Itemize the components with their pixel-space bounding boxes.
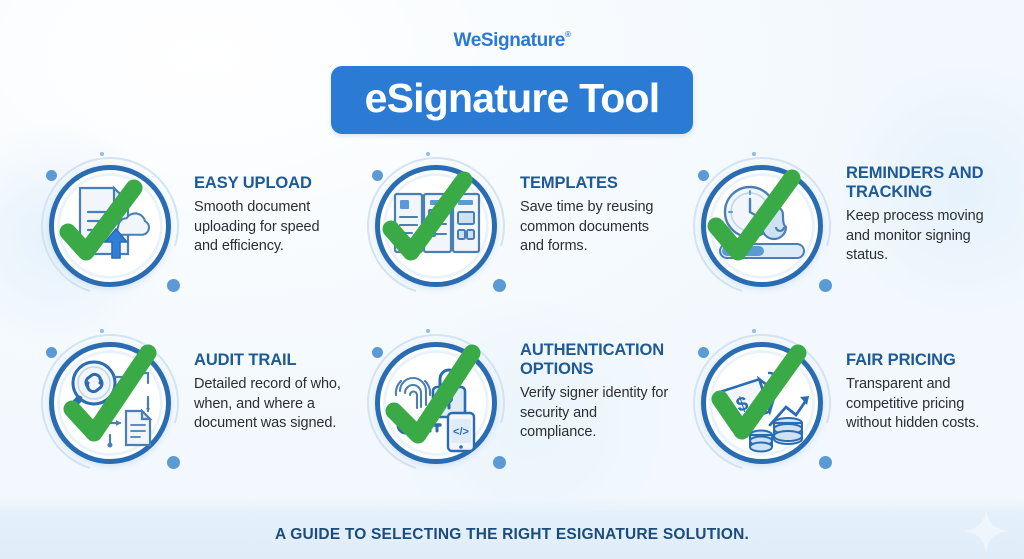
feature-text: FAIR PRICING Transparent and competitive… [838,323,998,434]
badge-dot-bottom-right [493,456,506,469]
badge-dot-bottom-right [819,279,832,292]
page-title: eSignature Tool [365,75,660,121]
brand-logo-signature: Signature [481,30,565,51]
feature-card-authentication-options: </> AUTHENTICATION OPTIONS Verify signer… [352,323,672,500]
badge-dot-tiny [426,329,430,333]
badge-dot-top-left [46,170,57,181]
badge-dot-tiny [752,329,756,333]
badge-dot-tiny [100,152,104,156]
badge-dot-tiny [752,152,756,156]
feature-heading: EASY UPLOAD [194,174,346,193]
registered-trademark-icon: ® [565,30,571,39]
feature-text: AUDIT TRAIL Detailed record of who, when… [186,323,346,434]
templates-icon [386,174,488,278]
feature-body: Save time by reusing common documents an… [520,198,672,257]
badge-dot-tiny [100,329,104,333]
feature-heading: AUTHENTICATION OPTIONS [520,341,672,379]
icon-badge [34,327,186,479]
feature-heading: FAIR PRICING [846,351,998,370]
icon-badge: </> [360,327,512,479]
feature-body: Detailed record of who, when, and where … [194,375,346,434]
fingerprint-lock-icon: </> [386,351,488,455]
feature-card-audit-trail: AUDIT TRAIL Detailed record of who, when… [26,323,346,500]
footer-bar: A GUIDE TO SELECTING THE RIGHT ESIGNATUR… [0,511,1024,559]
icon-badge: $ [686,327,838,479]
brand-logo-we: We [454,30,481,51]
feature-text: AUTHENTICATION OPTIONS Verify signer ide… [512,323,672,443]
magnifier-audit-icon [60,351,162,455]
icon-badge [360,150,512,302]
feature-body: Smooth document uploading for speed and … [194,198,346,257]
badge-dot-top-left [46,347,57,358]
feature-heading: TEMPLATES [520,174,672,193]
feature-card-reminders-and-tracking: REMINDERS AND TRACKING Keep process movi… [678,146,998,323]
footer-caption: A GUIDE TO SELECTING THE RIGHT ESIGNATUR… [275,526,749,544]
feature-body: Keep process moving and monitor signing … [846,207,998,266]
feature-body: Transparent and competitive pricing with… [846,375,998,434]
svg-text:</>: </> [453,426,469,438]
document-upload-icon [60,174,162,278]
badge-dot-bottom-right [167,456,180,469]
title-badge: eSignature Tool [331,66,694,134]
feature-card-templates: TEMPLATES Save time by reusing common do… [352,146,672,323]
feature-heading: AUDIT TRAIL [194,351,346,370]
badge-dot-top-left [698,170,709,181]
icon-badge [686,150,838,302]
clock-bell-reminder-icon [712,174,814,278]
esignature-tool-infographic: WeSignature® eSignature Tool [0,0,1024,559]
badge-dot-bottom-right [493,279,506,292]
feature-card-fair-pricing: $ [678,323,998,500]
title-container: eSignature Tool [0,66,1024,134]
badge-dot-top-left [372,170,383,181]
badge-dot-top-left [698,347,709,358]
feature-body: Verify signer identity for security and … [520,384,672,443]
icon-badge [34,150,186,302]
badge-dot-top-left [372,347,383,358]
feature-text: TEMPLATES Save time by reusing common do… [512,146,672,257]
badge-dot-bottom-right [819,456,832,469]
badge-dot-tiny [426,152,430,156]
brand-logo: WeSignature® [0,30,1024,52]
feature-heading: REMINDERS AND TRACKING [846,164,998,202]
badge-dot-bottom-right [167,279,180,292]
price-tag-coins-icon: $ [712,351,814,455]
sparkle-icon [962,511,1010,555]
feature-text: REMINDERS AND TRACKING Keep process movi… [838,146,998,266]
features-grid: EASY UPLOAD Smooth document uploading fo… [26,146,998,500]
feature-text: EASY UPLOAD Smooth document uploading fo… [186,146,346,257]
feature-card-easy-upload: EASY UPLOAD Smooth document uploading fo… [26,146,346,323]
